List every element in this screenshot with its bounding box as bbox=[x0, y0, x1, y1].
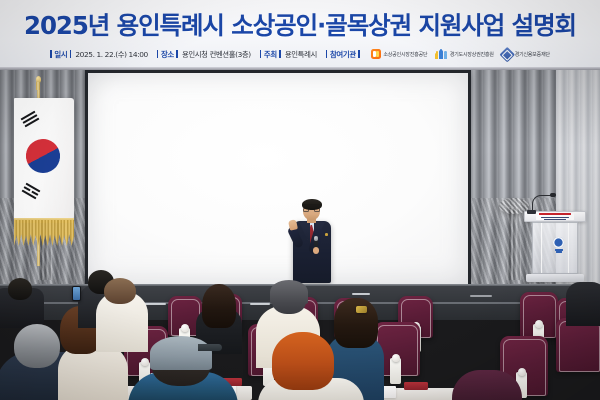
audience-head-gray-hair bbox=[14, 324, 60, 368]
banner-field-participants: 참여기관 bbox=[326, 49, 360, 60]
partner-logo-gsmi: 경기도시장상권진흥원 bbox=[435, 49, 493, 59]
red-booklet-2 bbox=[404, 382, 428, 390]
semas-logo-icon bbox=[371, 49, 381, 59]
baseball-cap-brim bbox=[198, 344, 222, 351]
chair-knot-6 bbox=[535, 320, 543, 328]
partner-logo-group: 소상공인시장진흥공단 경기도시장상권진흥원 경기신용보증재단 bbox=[371, 49, 550, 60]
audience-head-red-hair bbox=[272, 332, 334, 390]
label-bar-left-icon bbox=[260, 50, 262, 59]
podium-nameplate bbox=[536, 213, 574, 220]
banner-field-date-label: 일시 bbox=[50, 49, 71, 60]
banner-field-date: 일시 2025. 1. 22.(수) 14:00 bbox=[50, 49, 148, 60]
banner-field-participants-key: 참여기관 bbox=[330, 49, 356, 60]
hair-clip-icon bbox=[356, 306, 367, 313]
presenter-hair bbox=[302, 199, 322, 210]
banner-field-venue: 장소 용인시청 컨벤션홀(3층) bbox=[157, 49, 251, 60]
knit-beanie-icon bbox=[270, 280, 308, 304]
chair-knot-m1 bbox=[141, 358, 149, 366]
presenter-mic-hand bbox=[313, 247, 319, 254]
label-bar-left-icon bbox=[326, 50, 328, 59]
banner-field-participants-label: 참여기관 bbox=[326, 49, 360, 60]
banner-title: 2025년 용인특례시 소상공인·골목상권 지원사업 설명회 bbox=[0, 7, 600, 42]
audience-head-long-dark-hair bbox=[202, 284, 236, 328]
partner-logo-semas-label: 소상공인시장진흥공단 bbox=[383, 51, 427, 58]
microphone-base bbox=[527, 210, 536, 214]
gcgf-logo-icon bbox=[499, 47, 514, 62]
gsmi-logo-icon bbox=[435, 49, 447, 59]
yongin-city-emblem-icon bbox=[552, 237, 565, 254]
screenshot-root: 2025년 용인특례시 소상공인·골목상권 지원사업 설명회 일시 2025. … bbox=[0, 0, 600, 400]
partner-logo-gsmi-label: 경기도시장상권진흥원 bbox=[450, 51, 494, 58]
microphone-capsule-icon bbox=[550, 193, 556, 197]
projection-screen-surface bbox=[88, 73, 468, 285]
banner-field-venue-label: 장소 bbox=[157, 49, 178, 60]
banner-field-host-key: 주최 bbox=[264, 49, 277, 60]
banner-field-venue-key: 장소 bbox=[161, 49, 174, 60]
label-bar-left-icon bbox=[50, 50, 52, 59]
label-bar-right-icon bbox=[176, 50, 178, 59]
stage-step-highlight-3 bbox=[352, 293, 370, 295]
podium-body-panel bbox=[532, 222, 578, 274]
label-bar-left-icon bbox=[157, 50, 159, 59]
taegeuk-symbol-icon bbox=[20, 133, 66, 179]
label-bar-right-icon bbox=[279, 50, 281, 59]
event-banner: 2025년 용인특례시 소상공인·골목상권 지원사업 설명회 일시 2025. … bbox=[0, 0, 600, 70]
label-bar-right-icon bbox=[358, 50, 360, 59]
taegeukgi-flag bbox=[14, 98, 74, 220]
banner-field-date-key: 일시 bbox=[54, 49, 67, 60]
audience-head-far-left bbox=[8, 278, 32, 300]
seated-audience bbox=[0, 300, 600, 400]
partner-logo-semas: 소상공인시장진흥공단 bbox=[371, 49, 427, 59]
audience-body-right-edge-dark bbox=[566, 282, 600, 326]
korean-national-flag bbox=[6, 76, 72, 266]
banner-info-row: 일시 2025. 1. 22.(수) 14:00 장소 용인시청 컨벤션홀(3층… bbox=[0, 45, 600, 63]
chair-knot-m3 bbox=[392, 354, 400, 362]
banner-field-venue-value: 용인시청 컨벤션홀(3층) bbox=[182, 49, 251, 60]
presenter-lapel-pin-icon bbox=[325, 233, 328, 236]
trigram-gam-icon bbox=[22, 183, 41, 200]
chair-knot-2 bbox=[181, 324, 189, 332]
audience-head-white-hood bbox=[104, 278, 136, 304]
podium-base bbox=[526, 274, 584, 282]
presenter-with-microphone bbox=[286, 200, 338, 290]
banner-field-host-value: 용인특례시 bbox=[285, 49, 317, 60]
label-bar-right-icon bbox=[70, 50, 72, 59]
partner-logo-gcgf: 경기신용보증재단 bbox=[502, 49, 550, 60]
partner-logo-gcgf-label: 경기신용보증재단 bbox=[515, 51, 550, 58]
acrylic-podium bbox=[524, 195, 586, 295]
chair-knot-m4 bbox=[518, 368, 526, 376]
banner-field-host-label: 주최 bbox=[260, 49, 281, 60]
smartphone-icon bbox=[72, 286, 81, 301]
flag-gold-fringe bbox=[14, 220, 74, 246]
banner-field-host: 주최 용인특례시 bbox=[260, 49, 317, 60]
projection-screen bbox=[85, 70, 471, 288]
chair-mid-5 bbox=[556, 318, 600, 372]
curtain-tail-right bbox=[507, 208, 522, 280]
trigram-geon-icon bbox=[21, 111, 40, 128]
stage-step-highlight-4 bbox=[470, 295, 492, 297]
baseball-cap-icon bbox=[150, 336, 212, 370]
banner-field-date-value: 2025. 1. 22.(수) 14:00 bbox=[75, 49, 147, 60]
